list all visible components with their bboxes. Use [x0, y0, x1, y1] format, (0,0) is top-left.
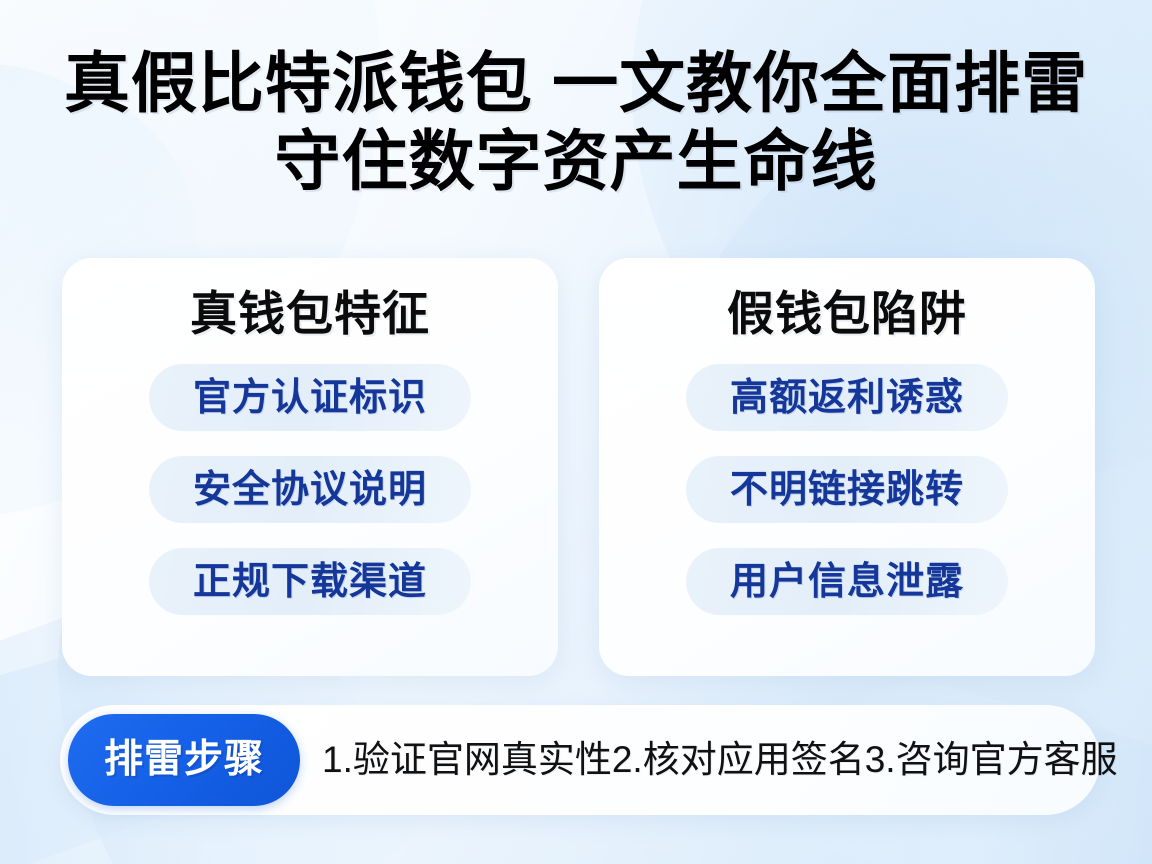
page-title: 真假比特派钱包 一文教你全面排雷 守住数字资产生命线	[0, 44, 1152, 200]
steps-text: 1.验证官网真实性2.核对应用签名3.咨询官方客服	[322, 737, 1118, 783]
list-item-label: 安全协议说明	[193, 468, 427, 512]
card-real-wallet-heading: 真钱包特征	[190, 286, 430, 342]
page-title-line-1: 真假比特派钱包 一文教你全面排雷	[0, 44, 1152, 122]
list-item[interactable]: 官方认证标识	[149, 364, 471, 431]
list-item[interactable]: 正规下载渠道	[149, 548, 471, 615]
infographic-canvas: 真假比特派钱包 一文教你全面排雷 守住数字资产生命线 真钱包特征 官方认证标识 …	[0, 0, 1152, 864]
list-item[interactable]: 用户信息泄露	[686, 548, 1008, 615]
list-item-label: 不明链接跳转	[730, 468, 964, 512]
card-real-wallet: 真钱包特征 官方认证标识 安全协议说明 正规下载渠道	[62, 258, 558, 676]
steps-badge-label: 排雷步骤	[104, 737, 264, 783]
card-fake-wallet-list: 高额返利诱惑 不明链接跳转 用户信息泄露	[599, 364, 1095, 615]
list-item[interactable]: 高额返利诱惑	[686, 364, 1008, 431]
list-item[interactable]: 安全协议说明	[149, 456, 471, 523]
comparison-cards: 真钱包特征 官方认证标识 安全协议说明 正规下载渠道 假钱包陷阱 高额返利诱惑	[62, 258, 1095, 676]
list-item-label: 高额返利诱惑	[730, 376, 964, 420]
steps-badge[interactable]: 排雷步骤	[68, 714, 300, 806]
list-item-label: 官方认证标识	[193, 376, 427, 420]
list-item-label: 用户信息泄露	[730, 560, 964, 604]
card-real-wallet-list: 官方认证标识 安全协议说明 正规下载渠道	[62, 364, 558, 615]
steps-bar: 排雷步骤 1.验证官网真实性2.核对应用签名3.咨询官方客服	[60, 705, 1100, 815]
page-title-line-2: 守住数字资产生命线	[0, 122, 1152, 200]
card-fake-wallet: 假钱包陷阱 高额返利诱惑 不明链接跳转 用户信息泄露	[599, 258, 1095, 676]
list-item[interactable]: 不明链接跳转	[686, 456, 1008, 523]
card-fake-wallet-heading: 假钱包陷阱	[727, 286, 967, 342]
list-item-label: 正规下载渠道	[193, 560, 427, 604]
